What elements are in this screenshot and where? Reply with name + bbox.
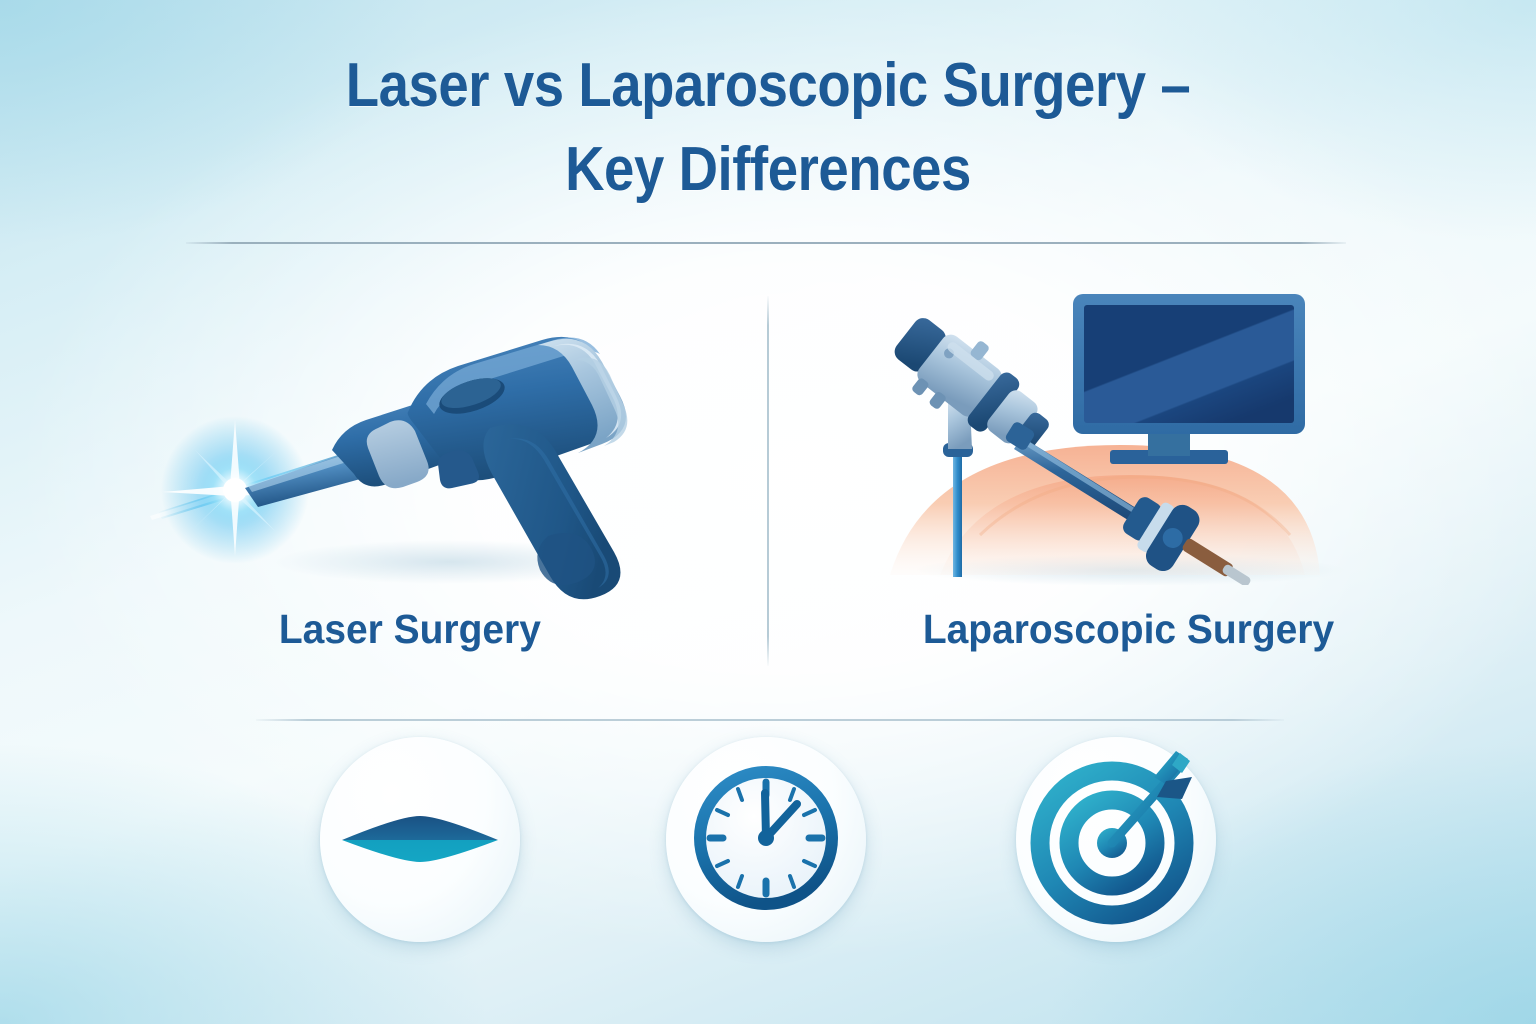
page-title: Laser vs Laparoscopic Surgery – Key Diff… [0,44,1536,212]
feature-icon-clock [658,735,873,950]
title-divider [186,242,1346,244]
monitor-screen [1084,305,1294,423]
infographic-canvas: Laser vs Laparoscopic Surgery – Key Diff… [0,0,1536,1024]
clock-icon [666,737,866,942]
panel-vertical-divider [767,296,769,666]
feature-icon-row [0,735,1536,950]
icons-divider [256,719,1284,721]
target-icon [1016,737,1216,942]
incision-icon [320,737,520,942]
feature-icon-incision [312,735,527,950]
laparoscopic-surgery-illustration [830,285,1370,585]
title-line-1: Laser vs Laparoscopic Surgery – [92,44,1444,128]
panel-label-laparoscopic: Laparoscopic Surgery [923,605,1334,653]
panel-label-laser: Laser Surgery [279,605,541,653]
laser-surgery-illustration [150,300,670,600]
title-line-2: Key Differences [92,128,1444,212]
feature-icon-target [1008,735,1223,950]
endoscope-head [881,301,1065,470]
monitor [1073,294,1305,464]
